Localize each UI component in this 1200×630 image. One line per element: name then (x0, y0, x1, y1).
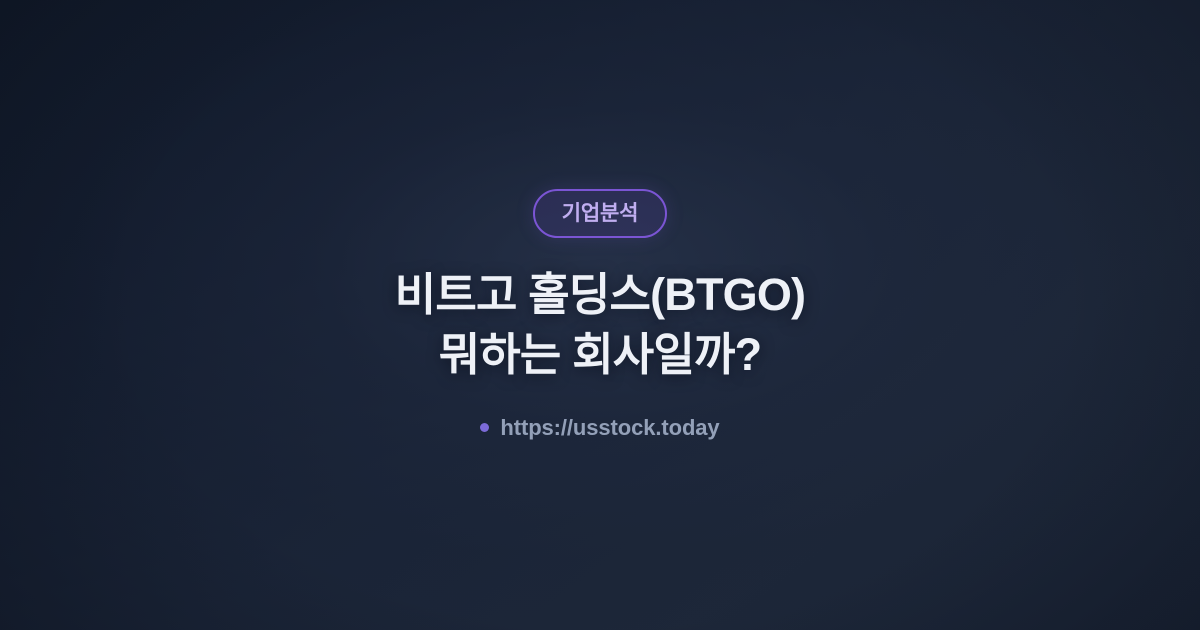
site-url-label: https://usstock.today (500, 417, 719, 439)
og-share-card: 기업분석 비트고 홀딩스(BTGO) 뭐하는 회사일까? https://uss… (0, 0, 1200, 630)
category-badge-label: 기업분석 (562, 203, 638, 224)
category-badge: 기업분석 (533, 189, 667, 238)
bullet-dot-icon (480, 423, 489, 432)
card-content-stack: 기업분석 비트고 홀딩스(BTGO) 뭐하는 회사일까? https://uss… (0, 0, 1200, 439)
card-title: 비트고 홀딩스(BTGO) 뭐하는 회사일까? (395, 265, 805, 385)
card-title-line-2: 뭐하는 회사일까? (395, 325, 805, 385)
site-url-row: https://usstock.today (480, 417, 719, 439)
card-title-line-1: 비트고 홀딩스(BTGO) (395, 265, 805, 325)
